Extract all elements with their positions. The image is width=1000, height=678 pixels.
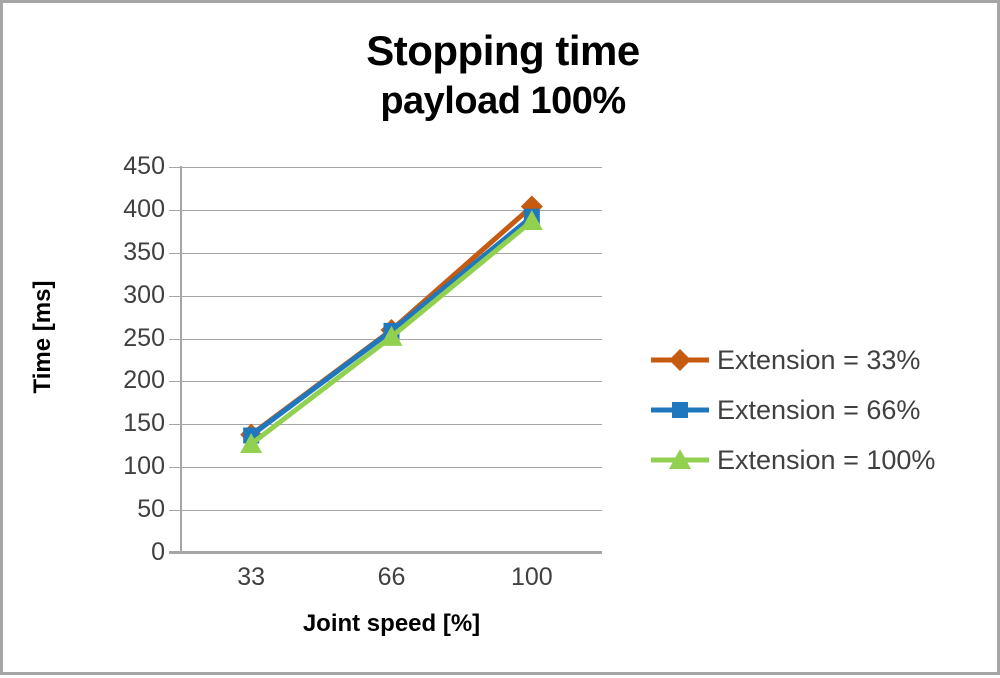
y-axis-tick-label: 50: [95, 497, 165, 522]
gridline: [181, 553, 602, 554]
y-axis-tick: [169, 424, 181, 425]
y-axis-tick-label: 300: [95, 283, 165, 308]
y-axis-tick-labels: 050100150200250300350400450: [93, 3, 165, 678]
y-axis-tick: [169, 210, 181, 211]
legend-label: Extension = 100%: [717, 445, 935, 475]
x-axis-tick-label: 100: [482, 563, 582, 591]
series-plot: [181, 167, 602, 553]
y-axis-tick: [169, 381, 181, 382]
y-axis-tick: [169, 510, 181, 511]
y-axis-tick: [169, 339, 181, 340]
x-axis-tick-label: 33: [201, 563, 301, 591]
y-axis-title: Time [ms]: [29, 257, 57, 417]
legend-item-1[interactable]: Extension = 33%: [651, 335, 991, 385]
y-axis-tick: [169, 467, 181, 468]
legend-item-3[interactable]: Extension = 100%: [651, 435, 991, 485]
y-axis-tick-label: 200: [95, 368, 165, 393]
y-axis-tick-label: 450: [95, 154, 165, 179]
y-axis-tick: [169, 253, 181, 254]
legend-marker-triangle-icon: [651, 447, 709, 473]
y-axis-tick-label: 400: [95, 197, 165, 222]
x-axis-tick-label: 66: [342, 563, 442, 591]
y-axis-tick-label: 0: [95, 540, 165, 565]
legend-label: Extension = 66%: [717, 395, 920, 425]
x-axis-title: Joint speed [%]: [181, 610, 602, 638]
series-3: [240, 210, 543, 453]
legend-marker-diamond-icon: [651, 347, 709, 373]
chart-legend: Extension = 33%Extension = 66%Extension …: [651, 335, 991, 485]
legend-label: Extension = 33%: [717, 345, 920, 375]
y-axis-tick: [169, 296, 181, 297]
y-axis-tick-label: 350: [95, 240, 165, 265]
y-axis-tick: [169, 167, 181, 168]
chart-frame: Stopping time payload 100% Time [ms] 050…: [0, 0, 1000, 675]
legend-marker-square-icon: [651, 397, 709, 423]
legend-item-2[interactable]: Extension = 66%: [651, 385, 991, 435]
y-axis-tick-label: 250: [95, 326, 165, 351]
y-axis-tick-label: 150: [95, 411, 165, 436]
y-axis-tick: [169, 553, 181, 554]
y-axis-tick-label: 100: [95, 454, 165, 479]
